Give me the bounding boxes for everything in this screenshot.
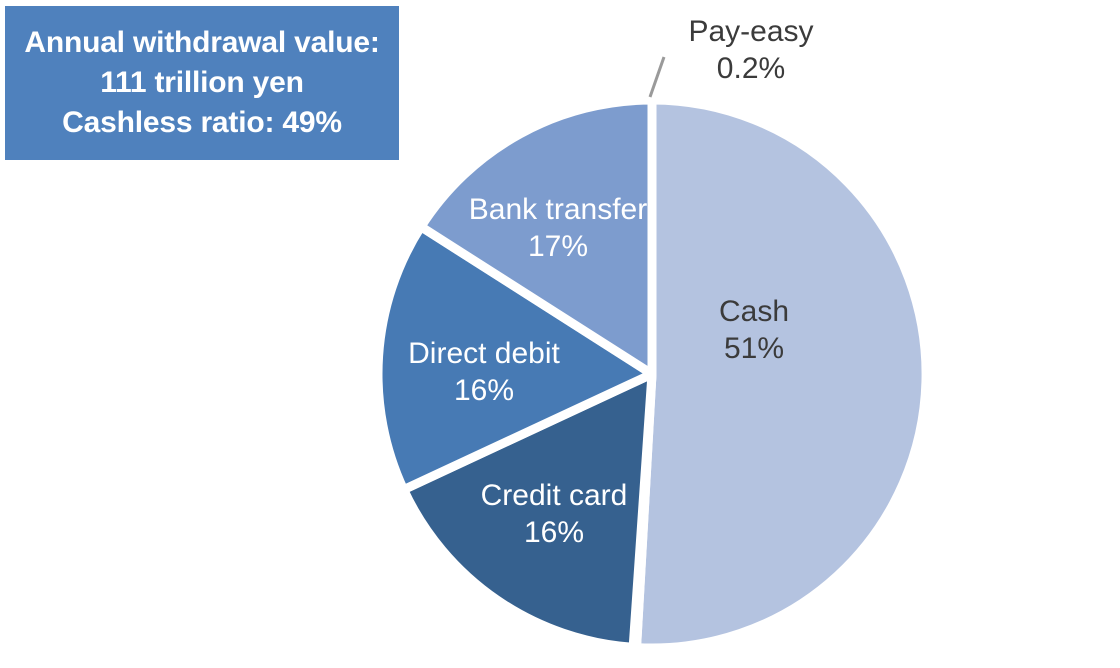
pie-slice-cash[interactable] xyxy=(637,100,927,648)
pay-easy-leader-line xyxy=(650,57,664,97)
pie-chart-svg xyxy=(0,0,1120,668)
pie-slices-group xyxy=(378,100,926,648)
pie-chart xyxy=(0,0,1120,668)
